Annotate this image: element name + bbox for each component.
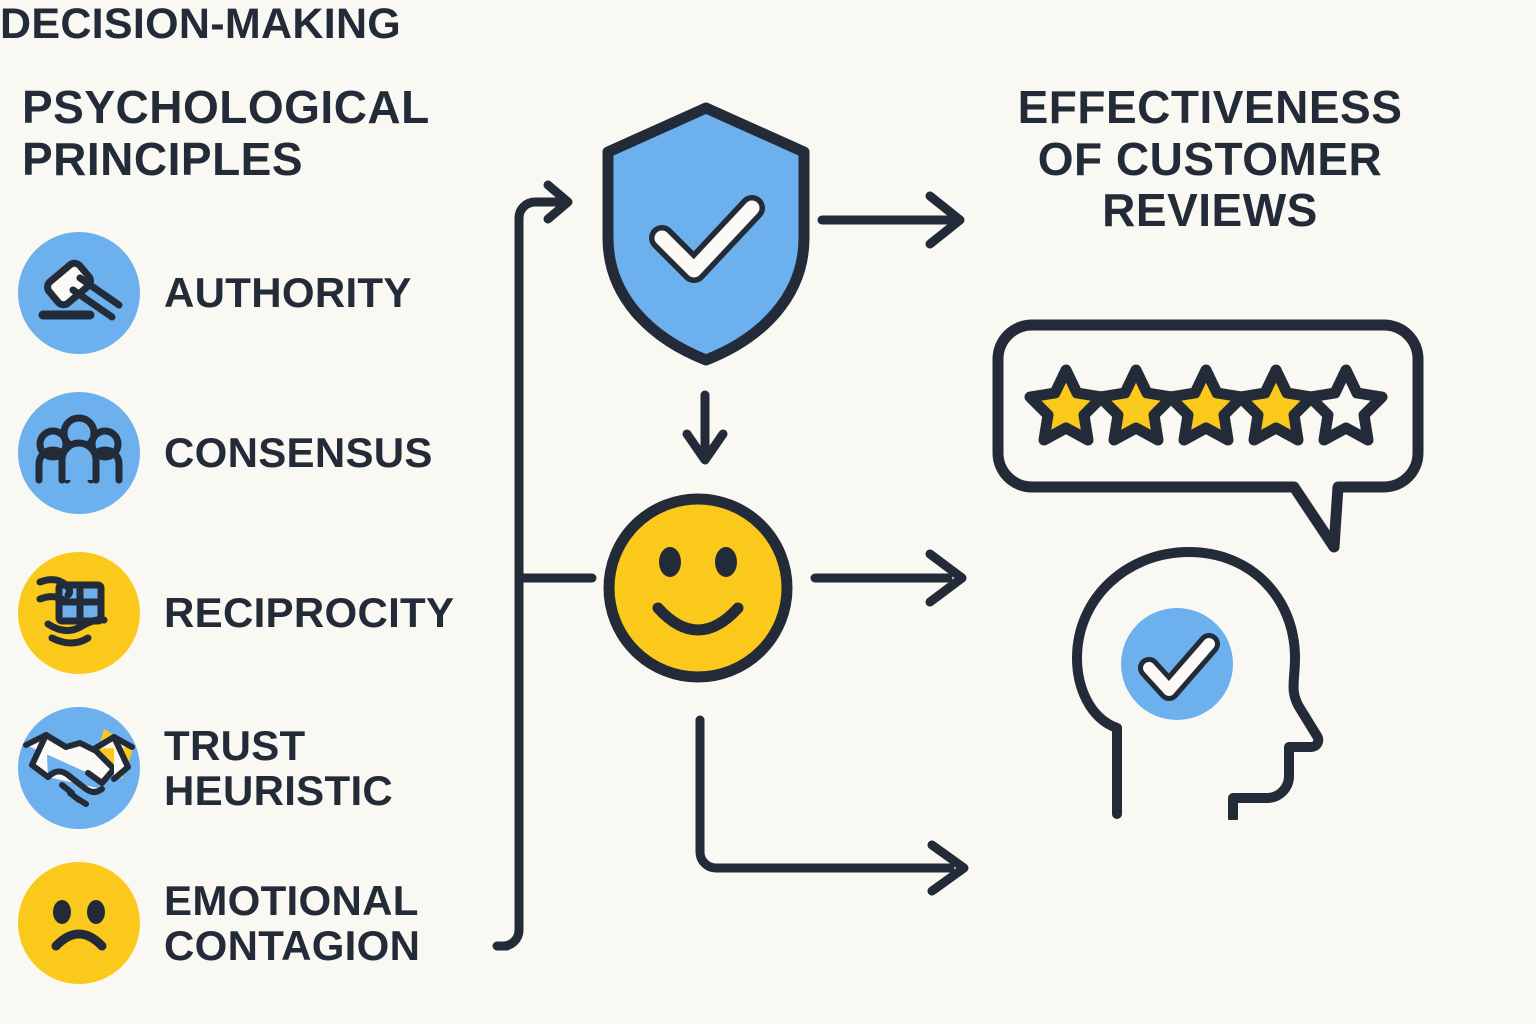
smiley-face-icon xyxy=(600,490,796,691)
page-title-psychological-principles: PSYCHOLOGICAL PRINCIPLES xyxy=(22,82,492,185)
handshake-icon xyxy=(18,707,140,829)
gift-hand-icon xyxy=(18,552,140,674)
page-title-effectiveness-of-customer-reviews: EFFECTIVENESS OF CUSTOMER REVIEWS xyxy=(975,82,1445,237)
list-item-consensus: CONSENSUS xyxy=(18,392,488,514)
people-icon xyxy=(18,392,140,514)
list-item-authority: AUTHORITY xyxy=(18,232,488,354)
infographic-canvas: PSYCHOLOGICAL PRINCIPLES EFFECTIVENESS O… xyxy=(0,0,1536,1024)
list-item-label: EMOTIONAL CONTAGION xyxy=(164,878,420,969)
list-item-reciprocity: RECIPROCITY xyxy=(18,552,488,674)
list-item-trust-heuristic: TRUST HEURISTIC xyxy=(18,707,488,829)
gavel-icon xyxy=(18,232,140,354)
list-item-label: RECIPROCITY xyxy=(164,590,454,635)
shield-check-icon xyxy=(592,100,820,373)
sad-face-icon xyxy=(18,862,140,984)
star-rating-speech-bubble-icon xyxy=(988,315,1428,570)
list-item-label: CONSENSUS xyxy=(164,430,433,475)
list-item-label: TRUST HEURISTIC xyxy=(164,723,393,814)
decision-making-label: DECISION-MAKING xyxy=(0,0,1536,49)
list-item-label: AUTHORITY xyxy=(164,270,412,315)
head-profile-check-icon xyxy=(1065,540,1355,825)
list-item-emotional-contagion: EMOTIONAL CONTAGION xyxy=(18,862,488,984)
